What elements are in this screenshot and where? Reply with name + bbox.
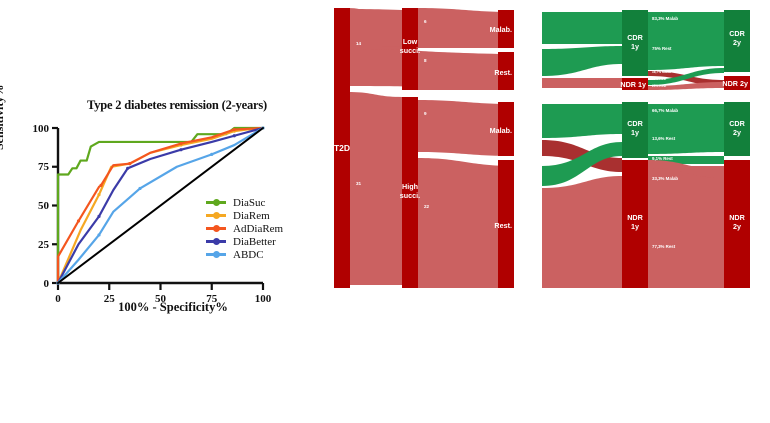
- flow-value-high-rest: 22: [424, 204, 430, 209]
- flow-pct-highrest-ndr: 77,2%: [518, 244, 531, 249]
- roc-chart-title: Type 2 diabetes remission (2-years): [52, 98, 302, 113]
- roc-legend: DiaSuc DiaRem AdDiaRem DiaBetter ABDC: [206, 196, 283, 261]
- link-lowmalab-cdr1y: [542, 12, 622, 44]
- flow-pct-highmalab-ndr: 33,3%: [518, 141, 531, 146]
- legend-item-diasuc: DiaSuc: [206, 196, 283, 209]
- flow-pct-a-rest-cdr: 25% Rest: [652, 77, 667, 81]
- legend-label-diabetter: DiaBetter: [233, 236, 276, 248]
- roc-point: [233, 128, 236, 131]
- legend-label-diasuc: DiaSuc: [233, 197, 265, 209]
- flow-pct-b-rest-ndr: 9,1% Rest: [652, 156, 673, 161]
- node-label-malab-high: Malab.: [490, 126, 512, 135]
- roc-point: [97, 193, 100, 196]
- flow-pct-highmalab-cdr: 66,7%: [518, 106, 531, 111]
- node-label-malab-low: Malab.: [490, 25, 512, 34]
- link-highrest-ndr1y: [542, 176, 622, 288]
- legend-item-addiarem: AdDiaRem: [206, 222, 283, 235]
- roc-x-tick-labels: 0 25 50 75 100: [55, 293, 272, 305]
- legend-item-diabetter: DiaBetter: [206, 235, 283, 248]
- link-ndr1y-ndr2y-b: [648, 166, 724, 288]
- legend-item-abdc: ABDC: [206, 248, 283, 261]
- node-label-high-succi-line2: succi.: [400, 191, 420, 200]
- node-label-ndr1y-b-line2: 1y: [631, 222, 639, 231]
- flow-pct-lowrest-ndr: 25%: [518, 82, 527, 87]
- node-label-ndr2y-b-line1: NDR: [729, 213, 745, 222]
- roc-point: [97, 215, 100, 218]
- legend-swatch-abdc: [206, 253, 226, 256]
- sankey-diagram-figure: T2D Low succi. High succi. Malab. Rest. …: [330, 0, 770, 423]
- y-tick-100: 100: [33, 123, 50, 135]
- legend-label-addiarem: AdDiaRem: [233, 223, 283, 235]
- node-label-low-succi-line1: Low: [403, 37, 418, 46]
- x-tick-0: 0: [55, 293, 61, 305]
- node-label-ndr2y-a: NDR 2y: [722, 79, 748, 88]
- flow-value-high-malab: 9: [424, 111, 427, 116]
- roc-point: [138, 187, 141, 190]
- flow-pct-a-cdr-rest: 75% Rest: [652, 46, 672, 51]
- node-label-cdr1y-b-line1: CDR: [627, 119, 643, 128]
- flow-value-low-rest: 8: [424, 58, 427, 63]
- legend-swatch-diarem: [206, 214, 226, 217]
- roc-point: [99, 184, 102, 187]
- flow-pct-b-rest-ndr2: 77,3% Rest: [652, 244, 676, 249]
- node-label-high-succi-line1: High: [402, 182, 418, 191]
- node-label-cdr2y-b-line2: 2y: [733, 128, 741, 137]
- node-label-cdr1y-a-line2: 1y: [631, 42, 639, 51]
- flow-pct-b-cdr-rest: 13,6% Rest: [652, 136, 676, 141]
- roc-y-tick-labels: 0 25 50 75 100: [33, 123, 50, 290]
- x-tick-25: 25: [104, 293, 116, 305]
- link-lowrest-cdr1y: [542, 46, 622, 76]
- link-highmalab-cdr1y: [542, 104, 622, 138]
- flow-value-t2d-high: 31: [356, 181, 362, 186]
- node-label-ndr1y-b-line1: NDR: [627, 213, 643, 222]
- legend-item-diarem: DiaRem: [206, 209, 283, 222]
- x-tick-100: 100: [255, 293, 272, 305]
- roc-point: [126, 167, 129, 170]
- roc-point: [179, 142, 182, 145]
- link-t2d-high: [348, 92, 402, 285]
- flow-pct-b-malab-ndr: 33,3% Malab: [652, 176, 678, 181]
- y-tick-25: 25: [38, 239, 50, 251]
- link-lowrest-ndr1y: [542, 78, 622, 88]
- legend-swatch-addiarem: [206, 227, 226, 230]
- x-tick-50: 50: [155, 293, 167, 305]
- legend-label-abdc: ABDC: [233, 249, 264, 261]
- y-tick-0: 0: [44, 278, 50, 290]
- x-tick-75: 75: [206, 293, 218, 305]
- node-label-rest-high: Rest.: [494, 221, 512, 230]
- node-label-cdr1y-b-line2: 1y: [631, 128, 639, 137]
- flow-pct-b-cdr-malab: 66,7% Malab: [652, 108, 678, 113]
- flow-value-low-malab: 6: [424, 19, 427, 24]
- roc-point: [179, 148, 182, 151]
- roc-point: [128, 162, 131, 165]
- roc-point: [210, 153, 213, 156]
- node-label-cdr2y-b-line1: CDR: [729, 119, 745, 128]
- node-label-cdr2y-a-line1: CDR: [729, 29, 745, 38]
- y-tick-50: 50: [38, 200, 50, 212]
- roc-y-axis-title: Sensitivity%: [0, 85, 7, 150]
- flow-pct-a-malab-ndr: 16,7% Malab: [652, 70, 671, 74]
- flow-pct-a-rest-ndr: 25% Rest: [652, 84, 667, 88]
- node-label-rest-low: Rest.: [494, 68, 512, 77]
- roc-curve-figure: Type 2 diabetes remission (2-years) Sens…: [0, 0, 330, 423]
- node-label-ndr2y-b-line2: 2y: [733, 222, 741, 231]
- node-label-low-succi-line2: succi.: [400, 46, 420, 55]
- roc-point: [77, 219, 80, 222]
- node-label-cdr1y-a-line1: CDR: [627, 33, 643, 42]
- sankey-canvas: T2D Low succi. High succi. Malab. Rest. …: [330, 0, 770, 423]
- node-label-ndr1y-a: NDR 1y: [620, 80, 646, 89]
- flow-pct-highrest-cdr: 22,7%: [518, 170, 531, 175]
- roc-point: [97, 233, 100, 236]
- node-label-cdr2y-a-line2: 2y: [733, 38, 741, 47]
- legend-swatch-diabetter: [206, 240, 226, 243]
- flow-pct-lowmalab-cdr: 100%: [518, 14, 529, 19]
- roc-point: [233, 134, 236, 137]
- y-tick-75: 75: [38, 161, 50, 173]
- node-label-t2d: T2D: [334, 143, 350, 153]
- flow-value-t2d-low: 14: [356, 41, 362, 46]
- flow-pct-a-cdr-malab: 83,3% Malab: [652, 16, 678, 21]
- legend-label-diarem: DiaRem: [233, 210, 270, 222]
- legend-swatch-diasuc: [206, 201, 226, 204]
- flow-pct-lowrest-cdr: 75%: [518, 54, 527, 59]
